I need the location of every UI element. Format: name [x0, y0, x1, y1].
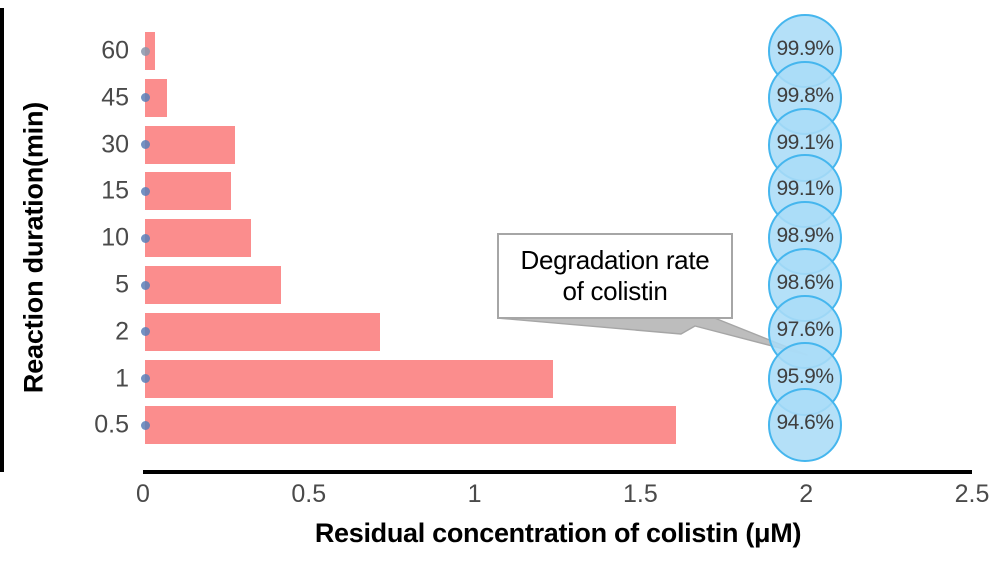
bar — [145, 172, 231, 210]
bubble-label: 97.6% — [776, 318, 833, 342]
y-axis-tick-label: 60 — [9, 37, 129, 66]
bar — [145, 313, 380, 351]
x-axis-tick-label: 1.5 — [600, 480, 680, 509]
y-axis-tick-label: 15 — [9, 177, 129, 206]
x-axis-tick-label: 2.5 — [932, 480, 992, 509]
bar — [145, 126, 235, 164]
x-axis-title: Residual concentration of colistin (μM) — [143, 518, 973, 549]
bubble-label: 98.6% — [776, 271, 833, 295]
bubble-label: 98.9% — [776, 224, 833, 248]
category-marker-dot — [141, 47, 150, 56]
bubble-label: 99.9% — [776, 37, 833, 61]
category-marker-dot — [141, 187, 150, 196]
x-axis-tick-label: 2 — [766, 480, 846, 509]
y-axis-tick-label: 30 — [9, 130, 129, 159]
y-axis-tick-label: 45 — [9, 83, 129, 112]
bubble-label: 94.6% — [776, 411, 833, 435]
y-axis-line — [0, 8, 4, 472]
y-axis-tick-label: 10 — [9, 224, 129, 253]
bar — [145, 219, 251, 257]
y-axis-tick-label: 2 — [9, 317, 129, 346]
y-axis-tick-label: 1 — [9, 364, 129, 393]
x-axis-tick-label: 1 — [435, 480, 515, 509]
callout-line-2: of colistin — [562, 276, 667, 307]
bar — [145, 360, 553, 398]
bubble-label: 99.8% — [776, 84, 833, 108]
category-marker-dot — [141, 421, 150, 430]
category-marker-dot — [141, 281, 150, 290]
degradation-rate-callout[interactable]: Degradation rate of colistin — [497, 233, 733, 319]
chart-container: Reaction duration(min) 60453015105210.5 … — [0, 0, 992, 564]
callout-line-1: Degradation rate — [521, 245, 710, 276]
x-axis-tick-label: 0.5 — [269, 480, 349, 509]
category-marker-dot — [141, 234, 150, 243]
y-axis-tick-label: 0.5 — [9, 411, 129, 440]
degradation-rate-bubble[interactable]: 94.6% — [768, 388, 842, 462]
y-axis-tick-label: 5 — [9, 271, 129, 300]
bubble-label: 95.9% — [776, 365, 833, 389]
bubble-label: 99.1% — [776, 131, 833, 155]
x-axis-tick-label: 0 — [103, 480, 183, 509]
bubble-label: 99.1% — [776, 177, 833, 201]
bar — [145, 406, 676, 444]
bar — [145, 266, 281, 304]
